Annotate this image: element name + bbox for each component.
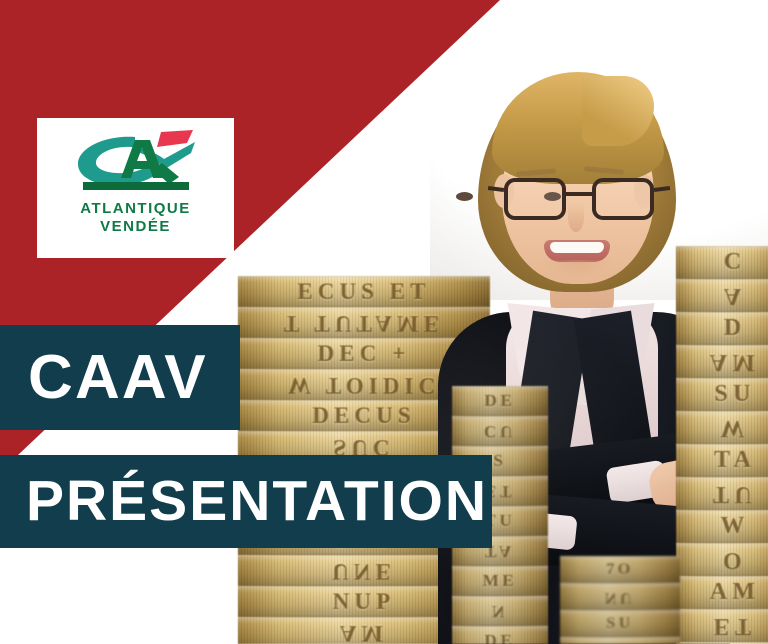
coin: TU (676, 477, 768, 510)
coin-inscription: W (720, 414, 749, 441)
coin: AM (676, 345, 768, 378)
chin-shadow (542, 260, 614, 278)
coin-inscription: NUP (333, 589, 395, 615)
coin-inscription: NU (605, 588, 635, 606)
coin: 7O (560, 556, 680, 583)
coin: DE (452, 626, 548, 644)
logo-region-line1: ATLANTIQUE (37, 200, 234, 218)
coin-inscription: T TUTAME (284, 310, 444, 336)
coin-inscription: D (724, 315, 747, 342)
coin-inscription: DE (484, 391, 515, 411)
coin-inscription: DECUS (312, 403, 415, 429)
eye-left (456, 192, 473, 201)
coin-inscription: S (493, 451, 506, 471)
coin: SU (676, 378, 768, 411)
coin-stack-right: CADAMSUWTATUWOAMETDECUS (676, 246, 768, 644)
coin-inscription: ET (714, 612, 757, 639)
coin: AM (676, 576, 768, 609)
coin-stack-bottom: 7ONUSU7ONU (560, 556, 680, 644)
coin-inscription: TU (713, 480, 757, 507)
lens-right (592, 178, 654, 220)
title-caav: CAAV (0, 347, 208, 409)
coin-inscription: W TOIDIC (288, 372, 440, 398)
coin: TA (676, 444, 768, 477)
coin-inscription: AM (340, 620, 388, 644)
coin-inscription: DE (484, 631, 515, 644)
coin-inscription: ME (483, 571, 518, 591)
coin: ET (676, 609, 768, 642)
coin-inscription: W (720, 513, 749, 540)
coin-inscription: AM (710, 348, 761, 375)
coin-inscription: DEC + (318, 341, 411, 367)
coin: 7O (560, 637, 680, 644)
coin-inscription: ECUS ET (297, 279, 430, 305)
coin-inscription: CU (484, 421, 516, 441)
coin: ME (452, 566, 548, 596)
coin: A (676, 279, 768, 312)
coin-inscription: UNE (332, 558, 396, 584)
coin-inscription: TA (714, 447, 756, 474)
logo-region-line2: VENDÉE (37, 218, 234, 236)
coin: W (676, 411, 768, 444)
presentation-cover: ECUS ETT TUTAMEDEC +W TOIDICDECUSSUCAMEN… (0, 0, 768, 644)
coin-inscription: 7O (606, 561, 634, 579)
coin-inscription: SU (714, 381, 755, 408)
coin: O (676, 543, 768, 576)
coin: C (676, 246, 768, 279)
eyeglasses-icon (502, 178, 656, 222)
lens-left (504, 178, 566, 220)
coin-inscription: N (492, 601, 508, 621)
title-banner-presentation: PRÉSENTATION (0, 455, 492, 548)
glasses-bridge (564, 192, 594, 196)
coin-inscription: A (724, 282, 747, 309)
coin: CU (452, 416, 548, 446)
coin-inscription: SU (606, 615, 634, 633)
credit-agricole-logo-icon (65, 130, 207, 192)
coin: NU (560, 583, 680, 610)
title-banner-caav: CAAV (0, 325, 240, 430)
coin: N (452, 596, 548, 626)
title-presentation: PRÉSENTATION (0, 473, 488, 530)
coin: DE (452, 386, 548, 416)
coin-inscription: O (723, 546, 747, 573)
coin: SU (560, 610, 680, 637)
coin-inscription: AM (710, 579, 761, 606)
coin: W (676, 510, 768, 543)
coin: D (676, 312, 768, 345)
logo-card: ATLANTIQUE VENDÉE (37, 118, 234, 258)
teeth (550, 242, 604, 253)
coin-inscription: C (724, 249, 747, 276)
